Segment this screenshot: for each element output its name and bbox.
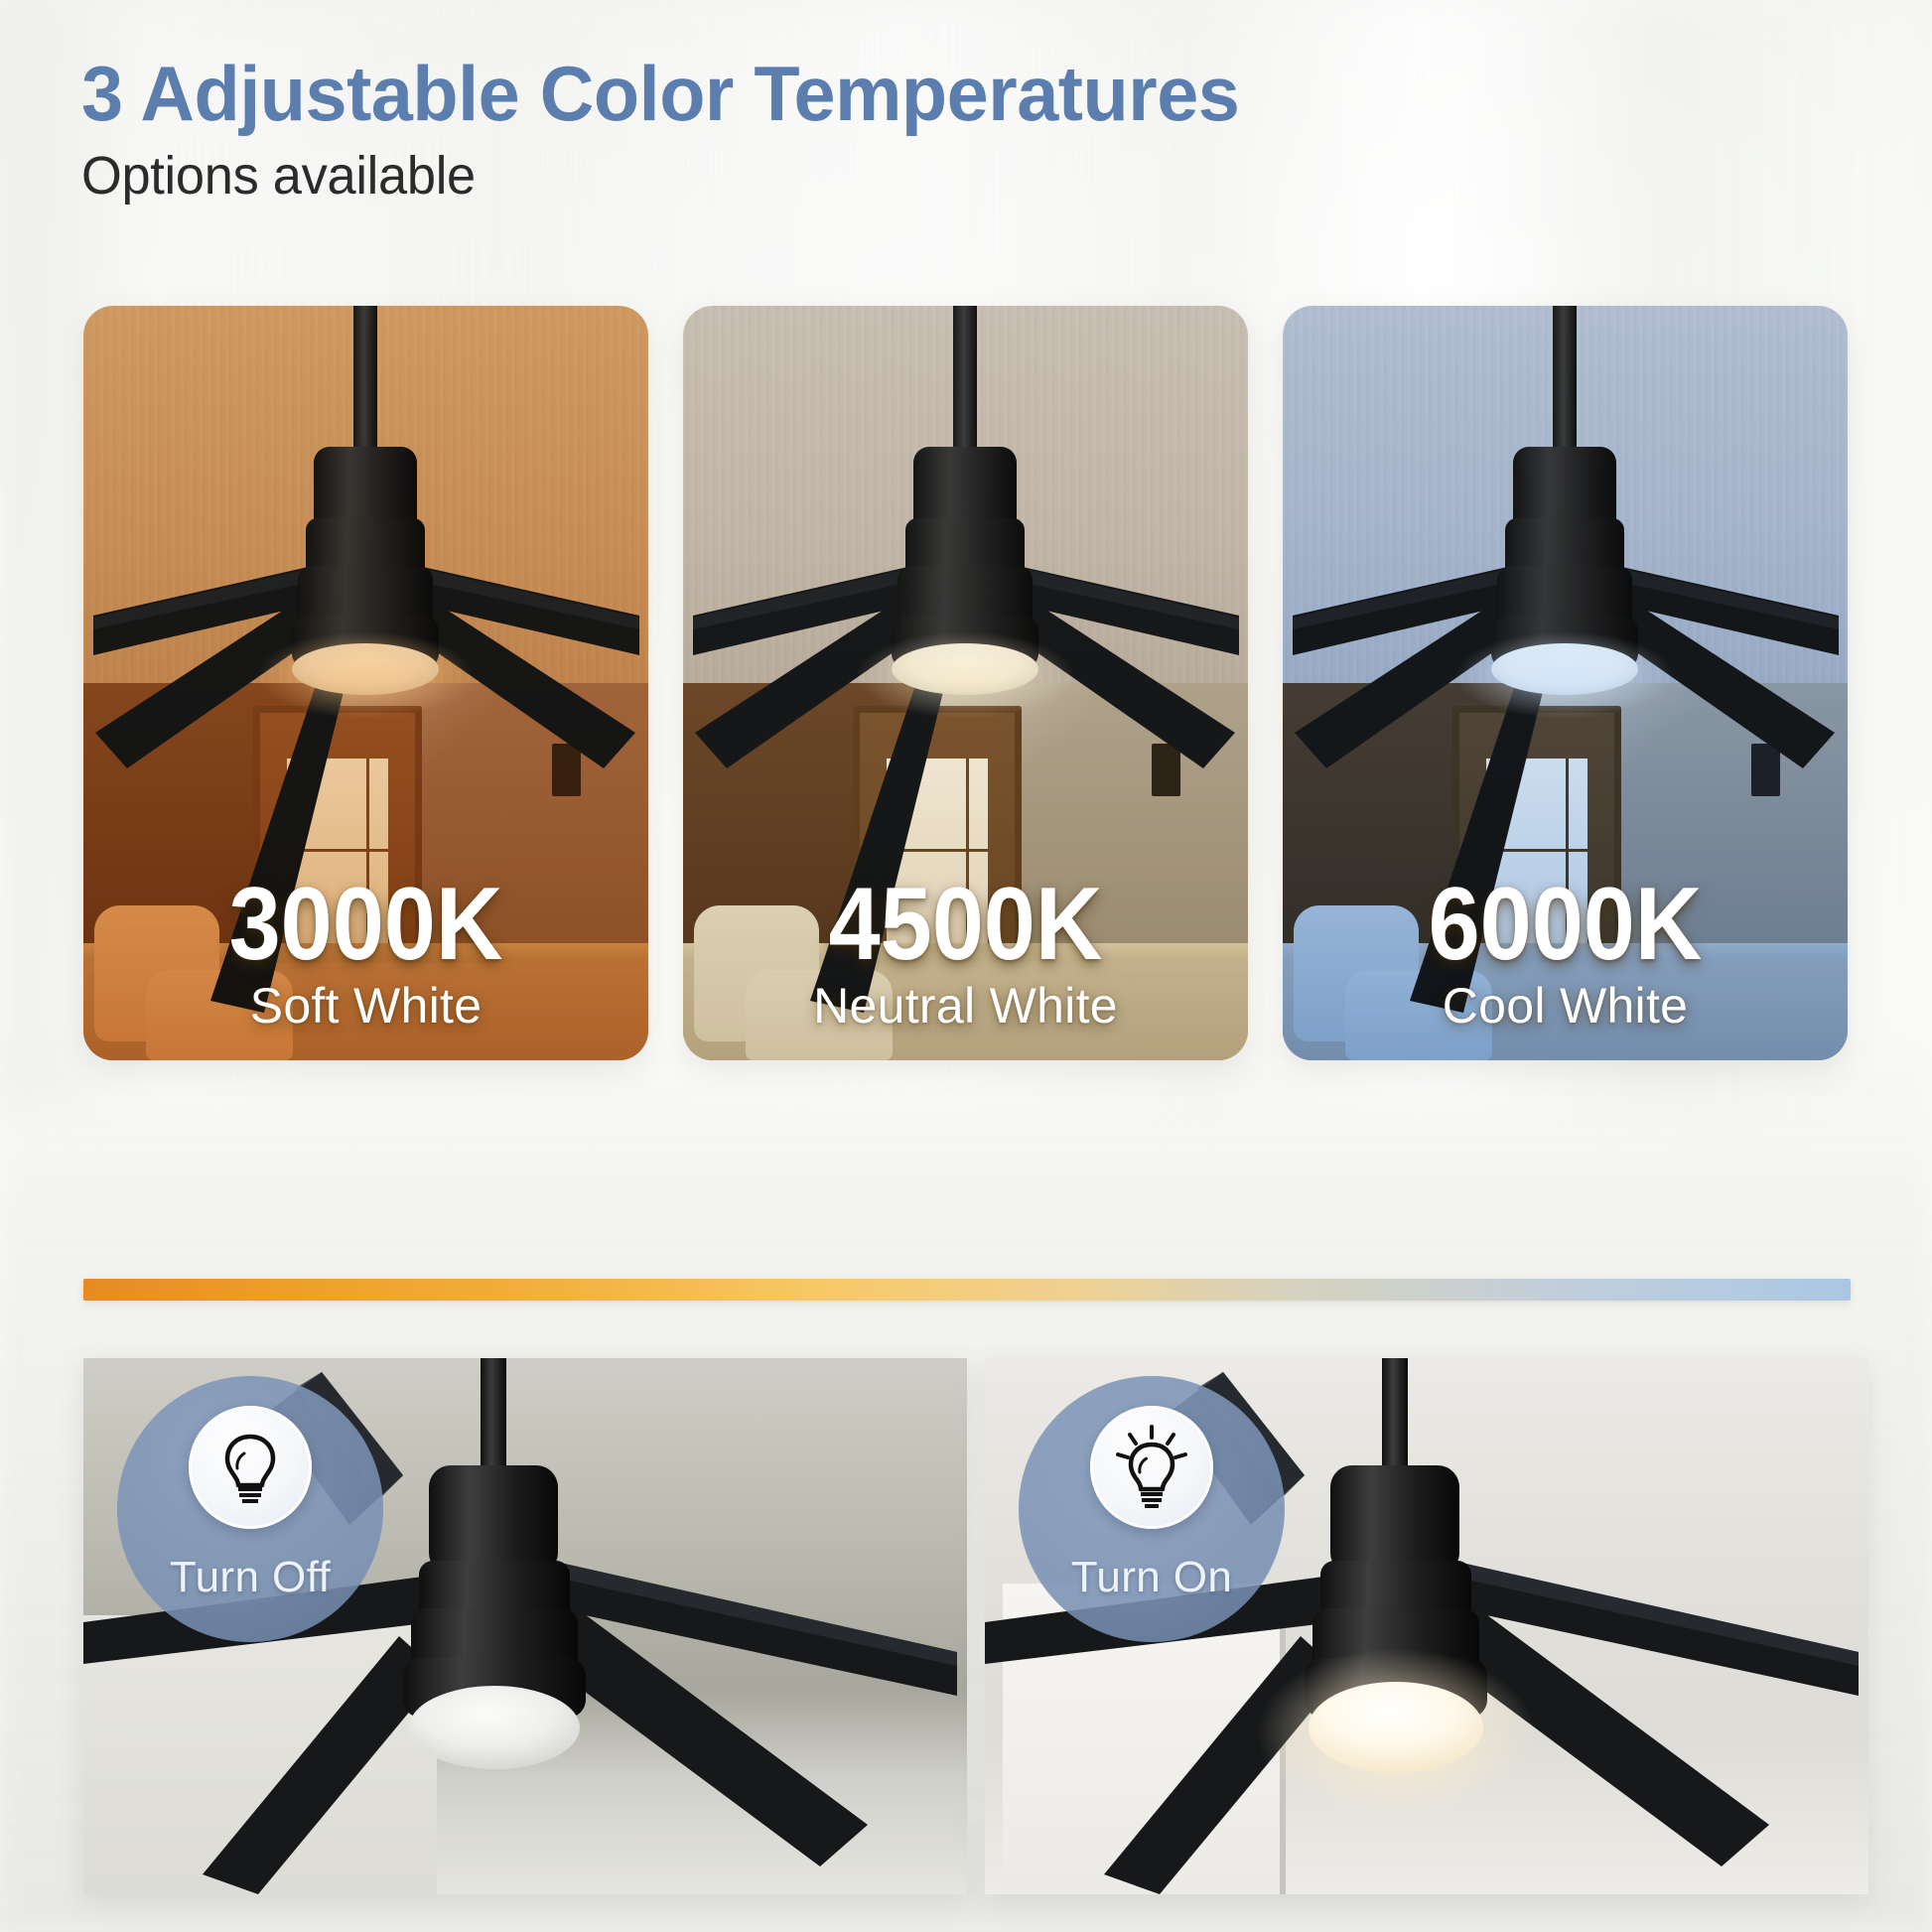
kelvin-name: Neutral White bbox=[683, 977, 1248, 1035]
header: 3 Adjustable Color Temperatures Options … bbox=[81, 54, 1275, 205]
color-temperature-cards: 3000K Soft White bbox=[0, 306, 1932, 1060]
lightbulb-on-icon bbox=[1090, 1406, 1213, 1529]
card-caption: 4500K Neutral White bbox=[683, 876, 1248, 1035]
temperature-card-4500k[interactable]: 4500K Neutral White bbox=[683, 306, 1248, 1060]
temperature-card-6000k[interactable]: 6000K Cool White bbox=[1283, 306, 1848, 1060]
temperature-card-3000k[interactable]: 3000K Soft White bbox=[83, 306, 648, 1060]
kelvin-name: Cool White bbox=[1283, 977, 1848, 1035]
page-title: 3 Adjustable Color Temperatures bbox=[81, 54, 1239, 134]
lightbulb-off-icon bbox=[189, 1406, 312, 1529]
light-state-panels: Turn Off bbox=[0, 1358, 1932, 1914]
turn-on-label: Turn On bbox=[1019, 1553, 1285, 1602]
panel-turn-off[interactable]: Turn Off bbox=[83, 1358, 967, 1894]
kelvin-value: 4500K bbox=[711, 876, 1219, 975]
product-infographic: 3 Adjustable Color Temperatures Options … bbox=[0, 0, 1932, 1932]
page-subtitle: Options available bbox=[81, 148, 1239, 205]
kelvin-value: 3000K bbox=[111, 876, 620, 975]
card-caption: 3000K Soft White bbox=[83, 876, 648, 1035]
card-caption: 6000K Cool White bbox=[1283, 876, 1848, 1035]
gradient-divider bbox=[83, 1279, 1851, 1301]
kelvin-value: 6000K bbox=[1311, 876, 1819, 975]
turn-off-badge[interactable]: Turn Off bbox=[117, 1376, 383, 1642]
panel-turn-on[interactable]: Turn On bbox=[985, 1358, 1868, 1894]
turn-on-badge[interactable]: Turn On bbox=[1019, 1376, 1285, 1642]
turn-off-label: Turn Off bbox=[117, 1553, 383, 1602]
kelvin-name: Soft White bbox=[83, 977, 648, 1035]
